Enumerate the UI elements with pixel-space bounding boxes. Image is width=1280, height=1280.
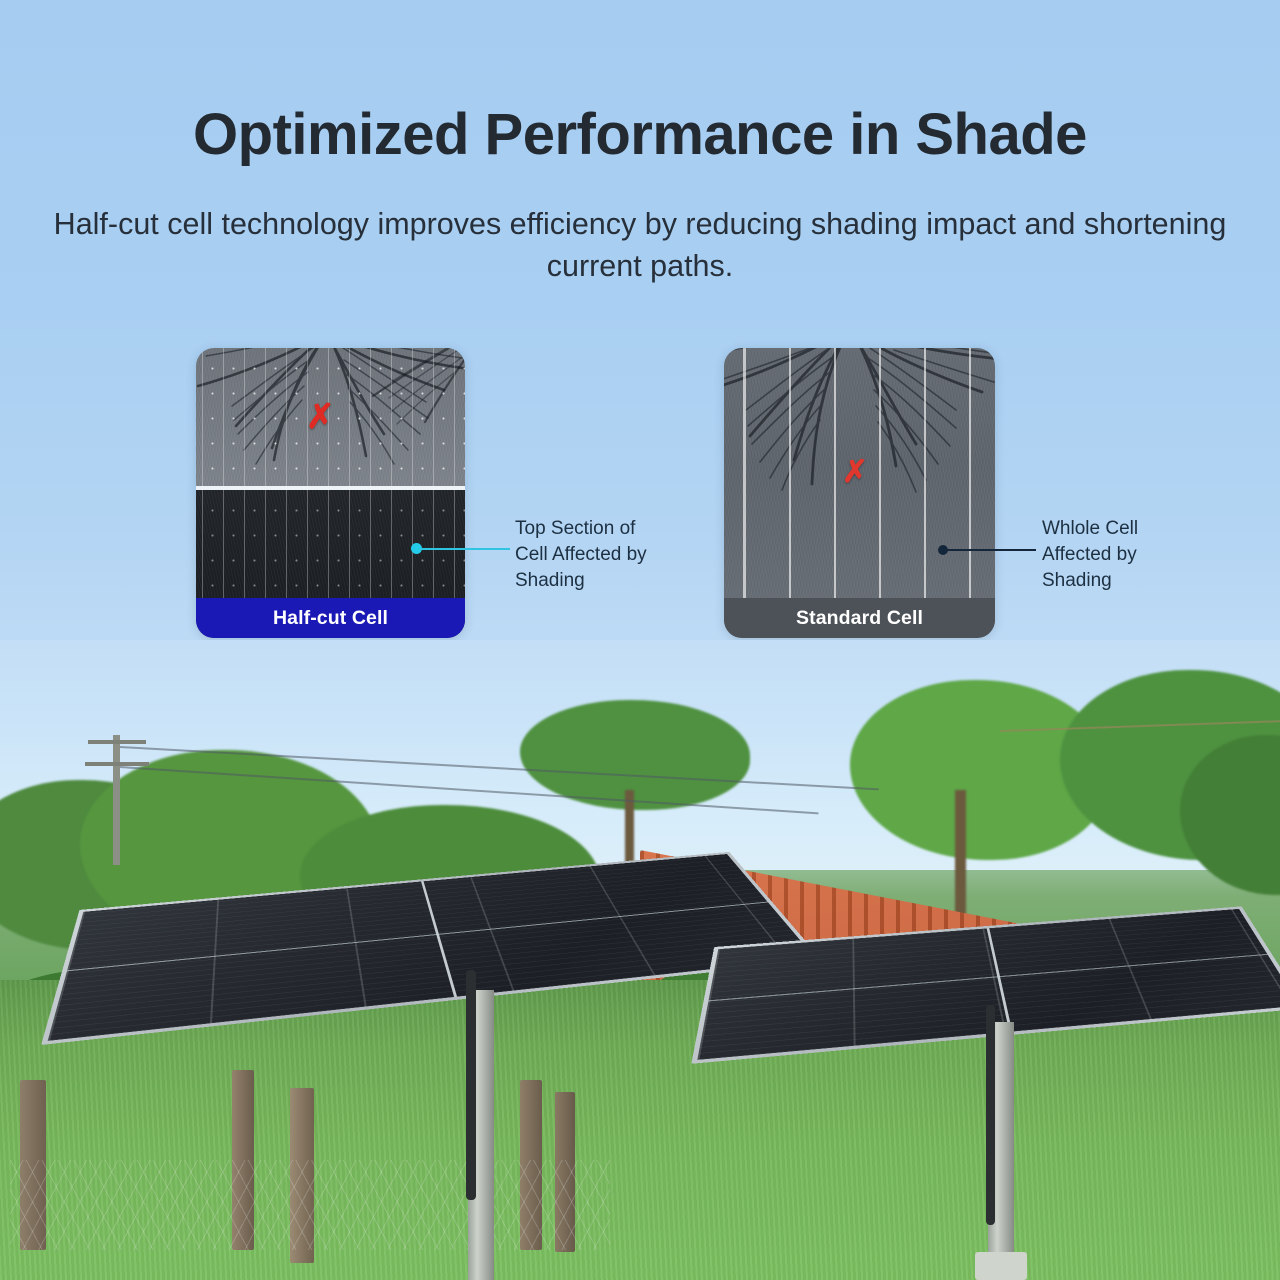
callout-leader-line-half-cut bbox=[420, 548, 510, 550]
page-subtitle: Half-cut cell technology improves effici… bbox=[50, 203, 1230, 287]
page-title: Optimized Performance in Shade bbox=[0, 104, 1280, 167]
callout-text-standard: Whlole Cell Affected by Shading bbox=[1042, 516, 1252, 595]
shading-x-mark-half: ✗ bbox=[306, 400, 335, 434]
utility-pole bbox=[113, 735, 120, 865]
standard-cell-label: Standard Cell bbox=[724, 598, 995, 638]
shading-x-mark-standard: ✗ bbox=[842, 456, 868, 487]
callout-text-half-cut: Top Section of Cell Affected by Shading bbox=[515, 516, 715, 595]
array-right-cable bbox=[986, 1005, 995, 1225]
standard-cell-panel[interactable]: ✗ Standard Cell bbox=[724, 348, 995, 638]
product-photo bbox=[0, 640, 1280, 1280]
array-left-cable bbox=[466, 970, 476, 1200]
half-cut-cell-panel[interactable]: ✗ √ Half-cut Cell bbox=[196, 348, 465, 638]
infographic-band: Optimized Performance in Shade Half-cut … bbox=[0, 0, 1280, 700]
standard-cell-face: ✗ bbox=[724, 348, 995, 638]
cell-busbar-lines bbox=[724, 348, 995, 638]
callout-leader-line-standard bbox=[946, 549, 1036, 551]
wire-fence bbox=[10, 1160, 610, 1250]
half-cut-cell-label: Half-cut Cell bbox=[196, 598, 465, 638]
half-cut-top-section: ✗ bbox=[196, 348, 465, 486]
pole-crossarm bbox=[88, 740, 146, 744]
array-right-base bbox=[975, 1252, 1027, 1280]
pole-crossarm bbox=[85, 762, 149, 766]
